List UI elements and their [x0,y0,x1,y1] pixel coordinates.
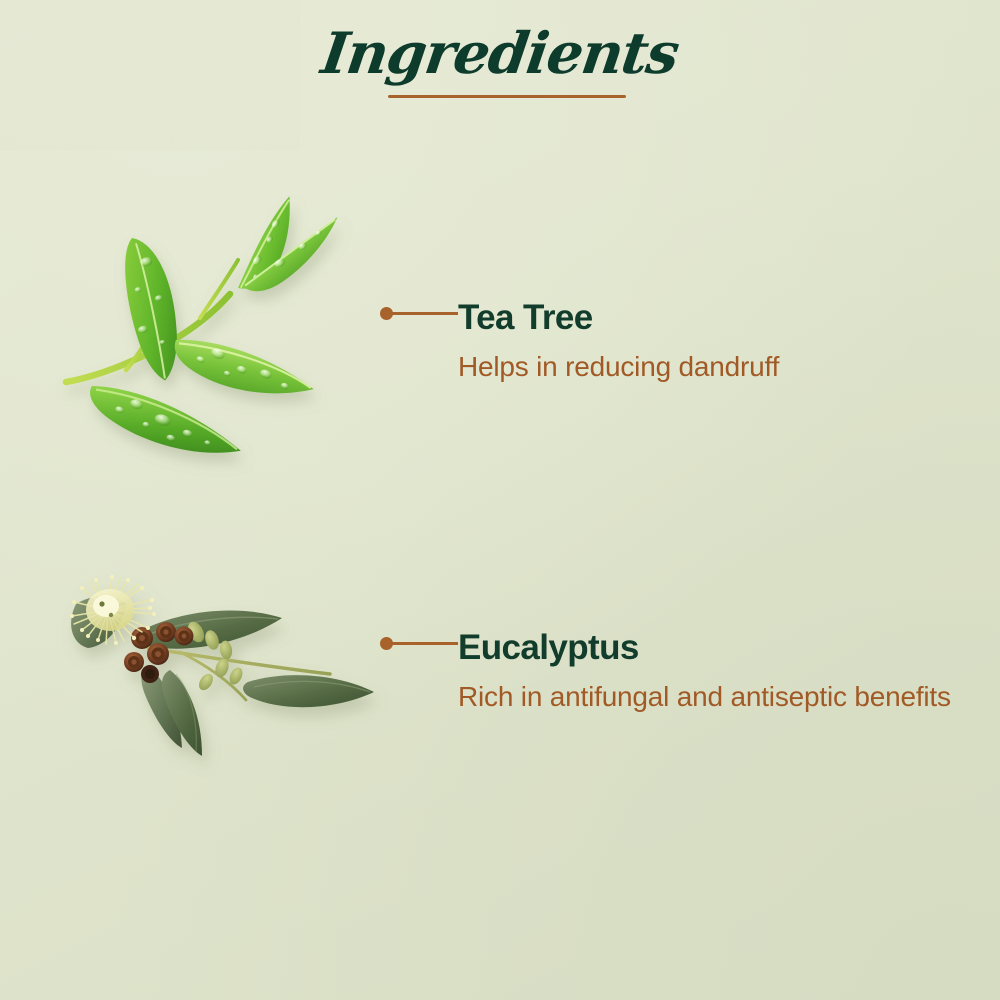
bullet-connector-line [390,312,458,315]
bullet-marker-eucalyptus [380,630,458,656]
page-title: Ingredients [318,24,682,84]
ingredients-poster: Ingredients [0,0,1000,1000]
ingredient-name: Eucalyptus [458,630,951,665]
bullet-connector-line [390,642,458,645]
tea-tree-image [30,200,380,460]
tea-tree-copy: Tea Tree Helps in reducing dandruff [380,300,779,384]
ingredient-row-eucalyptus: Eucalyptus Rich in antifungal and antise… [0,570,1000,780]
ingredient-name: Tea Tree [458,300,779,335]
bullet-marker-tea-tree [380,300,458,326]
ingredient-description: Rich in antifungal and antiseptic benefi… [458,679,951,714]
title-block: Ingredients [0,24,1000,84]
ingredient-row-tea-tree: Tea Tree Helps in reducing dandruff [0,200,1000,460]
eucalyptus-image [30,570,380,780]
title-underline [388,95,626,98]
ingredient-description: Helps in reducing dandruff [458,349,779,384]
eucalyptus-copy: Eucalyptus Rich in antifungal and antise… [380,630,951,714]
